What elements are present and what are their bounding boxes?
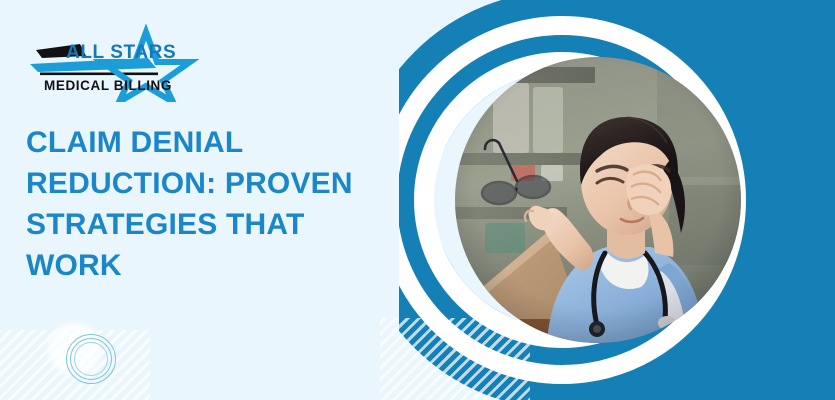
nurse-photo-illustration <box>455 57 741 343</box>
ring-inner <box>74 342 108 376</box>
page-title: Claim Denial Reduction: Proven Strategie… <box>26 122 386 286</box>
logo-brand-line-2: MEDICAL BILLING <box>44 78 172 93</box>
company-logo[interactable]: ALL STARS MEDICAL BILLING <box>22 24 207 102</box>
blog-header-banner: ALL STARS MEDICAL BILLING Claim Denial R… <box>0 0 835 400</box>
hero-photo <box>455 57 741 343</box>
headline-block: Claim Denial Reduction: Proven Strategie… <box>26 122 386 286</box>
logo-brand-line-1: ALL STARS <box>66 42 176 63</box>
concentric-rings-decoration <box>60 328 122 390</box>
